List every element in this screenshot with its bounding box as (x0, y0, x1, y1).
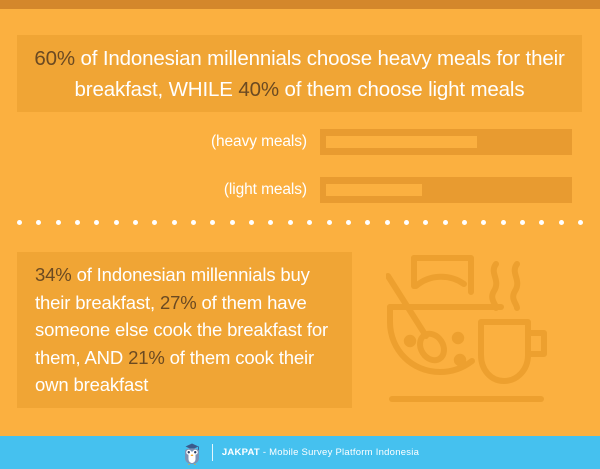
divider-dot (191, 220, 196, 225)
divider-dot (307, 220, 312, 225)
divider-dot (230, 220, 235, 225)
bar-row-light-meals: (light meals) (150, 176, 585, 204)
bar-fill-light-meals (326, 184, 422, 196)
bar-track-light-meals (320, 177, 572, 203)
divider-dot (288, 220, 293, 225)
divider-dot (114, 220, 119, 225)
footer-brand: JAKPAT (222, 447, 260, 458)
divider-dot (346, 220, 351, 225)
divider-dot (423, 220, 428, 225)
infographic-poster: 60% of Indonesian millennials choose hea… (0, 0, 600, 469)
divider-dot (443, 220, 448, 225)
divider-dot (365, 220, 370, 225)
dotted-divider (17, 219, 583, 225)
footer-content: JAKPAT - Mobile Survey Platform Indonesi… (181, 441, 419, 465)
bar-row-heavy-meals: (heavy meals) (150, 128, 585, 156)
steam-icon (492, 264, 496, 308)
headline-pct-heavy: 60% (34, 47, 75, 70)
breakfast-illustration (386, 250, 586, 410)
divider-dot (249, 220, 254, 225)
footer-tagline: - Mobile Survey Platform Indonesia (260, 447, 419, 458)
divider-dot (385, 220, 390, 225)
headline-pct-light: 40% (238, 78, 279, 101)
cup-handle-icon (530, 333, 544, 354)
divider-dot (481, 220, 486, 225)
divider-dot (559, 220, 564, 225)
statement-pct-buy: 34% (35, 264, 72, 285)
statement-pct-own-cook: 21% (128, 347, 165, 368)
divider-dot (404, 220, 409, 225)
bar-track-heavy-meals (320, 129, 572, 155)
divider-dot (152, 220, 157, 225)
divider-dot (501, 220, 506, 225)
steam-icon (513, 264, 517, 308)
owl-mascot-icon (181, 441, 203, 465)
bar-label-heavy-meals: (heavy meals) (150, 133, 320, 151)
bubble-icon (455, 335, 461, 341)
divider-dot (539, 220, 544, 225)
coffee-cup-icon (481, 322, 528, 381)
bubble-icon (407, 338, 413, 344)
statement-panel: 34% of Indonesian millennials buy their … (17, 252, 352, 408)
headline-text: 60% of Indonesian millennials choose hea… (32, 43, 568, 105)
statement-pct-someone-else: 27% (160, 292, 197, 313)
divider-dot (133, 220, 138, 225)
divider-dot (17, 220, 22, 225)
bar-label-light-meals: (light meals) (150, 181, 320, 199)
divider-dot (94, 220, 99, 225)
divider-dot (578, 220, 583, 225)
footer-caption: JAKPAT - Mobile Survey Platform Indonesi… (222, 447, 419, 458)
divider-dot (327, 220, 332, 225)
bubble-icon (457, 357, 463, 363)
toast-slice-icon (416, 277, 464, 286)
footer-bar: JAKPAT - Mobile Survey Platform Indonesi… (0, 436, 600, 469)
divider-dot (56, 220, 61, 225)
top-accent-strip (0, 0, 600, 9)
divider-dot (210, 220, 215, 225)
bar-fill-heavy-meals (326, 136, 477, 148)
divider-dot (520, 220, 525, 225)
divider-dot (172, 220, 177, 225)
divider-dot (36, 220, 41, 225)
divider-dot (75, 220, 80, 225)
divider-dot (462, 220, 467, 225)
footer-divider (212, 444, 213, 461)
headline-banner: 60% of Indonesian millennials choose hea… (17, 35, 582, 112)
statement-text: 34% of Indonesian millennials buy their … (17, 261, 352, 399)
spoon-bowl-icon (415, 329, 449, 364)
divider-dot (268, 220, 273, 225)
headline-segment-2: of them choose light meals (279, 78, 525, 101)
